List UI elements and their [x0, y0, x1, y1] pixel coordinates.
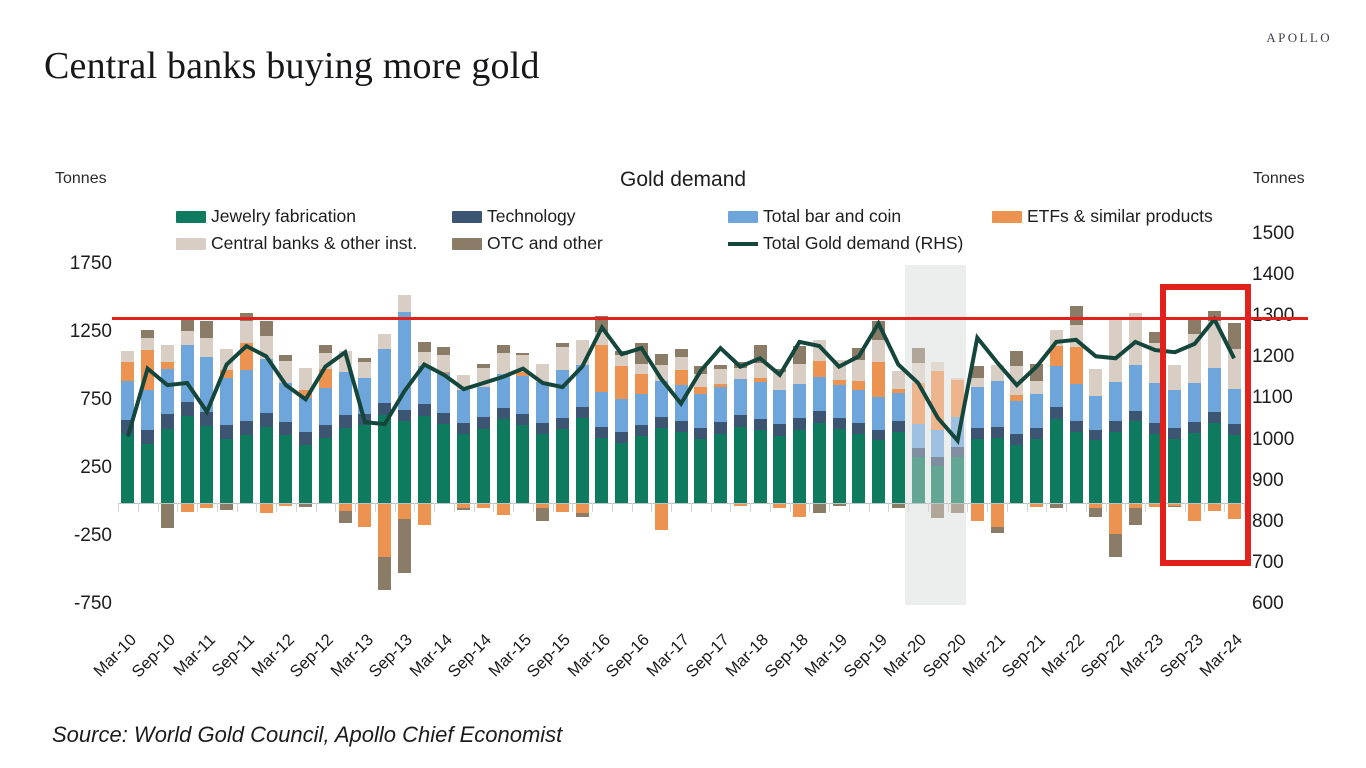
threshold-annotation-line: [112, 317, 1308, 320]
left-axis-tick-neg750: -750: [74, 593, 112, 615]
legend-swatch-etfs-similar-products: [992, 211, 1022, 223]
legend-swatch-central-banks-other-inst: [176, 238, 206, 250]
right-axis-tick-800: 800: [1252, 511, 1284, 533]
x-axis-labels: Mar-10Sep-10Mar-11Sep-11Mar-12Sep-12Mar-…: [0, 0, 1366, 120]
legend-swatch-jewelry-fabrication: [176, 211, 206, 223]
plot-area: [118, 265, 1244, 605]
chart-legend: Jewelry fabrication Technology Total bar…: [176, 203, 1246, 257]
right-axis-tick-700: 700: [1252, 552, 1284, 574]
legend-item-etfs-similar-products[interactable]: ETFs & similar products: [992, 206, 1213, 227]
legend-item-jewelry-fabrication[interactable]: Jewelry fabrication: [176, 206, 452, 227]
total-gold-demand-line: [118, 265, 1244, 605]
legend-row-2: Central banks & other inst. OTC and othe…: [176, 230, 1246, 257]
legend-label-otc-and-other: OTC and other: [487, 233, 603, 254]
slide-root: APOLLO Central banks buying more gold So…: [0, 0, 1366, 768]
legend-label-central-banks-other-inst: Central banks & other inst.: [211, 233, 417, 254]
legend-item-central-banks-other-inst[interactable]: Central banks & other inst.: [176, 233, 452, 254]
legend-item-total-bar-and-coin[interactable]: Total bar and coin: [728, 206, 992, 227]
legend-swatch-total-bar-and-coin: [728, 211, 758, 223]
right-axis-tick-1200: 1200: [1252, 346, 1294, 368]
line-path-total-gold-demand: [128, 319, 1234, 440]
right-axis-tick-600: 600: [1252, 593, 1284, 615]
right-axis-tick-1100: 1100: [1252, 387, 1293, 409]
chart-title: Gold demand: [620, 168, 746, 192]
legend-label-total-bar-and-coin: Total bar and coin: [763, 206, 901, 227]
left-axis-unit-label: Tonnes: [55, 170, 107, 188]
left-axis-tick-1250: 1250: [70, 321, 112, 343]
right-axis-tick-1300: 1300: [1252, 305, 1294, 327]
legend-label-etfs-similar-products: ETFs & similar products: [1027, 206, 1213, 227]
right-axis-unit-label: Tonnes: [1253, 170, 1305, 188]
legend-line-total-gold-demand: [728, 242, 758, 246]
source-note: Source: World Gold Council, Apollo Chief…: [52, 722, 562, 748]
legend-item-total-gold-demand[interactable]: Total Gold demand (RHS): [728, 233, 963, 254]
legend-row-1: Jewelry fabrication Technology Total bar…: [176, 203, 1246, 230]
legend-swatch-otc-and-other: [452, 238, 482, 250]
left-axis-tick-1750: 1750: [70, 253, 112, 275]
legend-swatch-technology: [452, 211, 482, 223]
right-axis-tick-900: 900: [1252, 470, 1284, 492]
legend-label-jewelry-fabrication: Jewelry fabrication: [211, 206, 356, 227]
legend-item-technology[interactable]: Technology: [452, 206, 728, 227]
legend-label-total-gold-demand: Total Gold demand (RHS): [763, 233, 963, 254]
highlight-annotation-box: [1160, 284, 1251, 566]
left-axis-tick-250: 250: [80, 457, 112, 479]
left-axis-tick-neg250: -250: [74, 525, 112, 547]
left-axis-tick-750: 750: [80, 389, 112, 411]
right-axis-tick-1000: 1000: [1252, 429, 1294, 451]
legend-label-technology: Technology: [487, 206, 576, 227]
right-axis-tick-1500: 1500: [1252, 223, 1294, 245]
legend-item-otc-and-other[interactable]: OTC and other: [452, 233, 728, 254]
right-axis-tick-1400: 1400: [1252, 264, 1294, 286]
